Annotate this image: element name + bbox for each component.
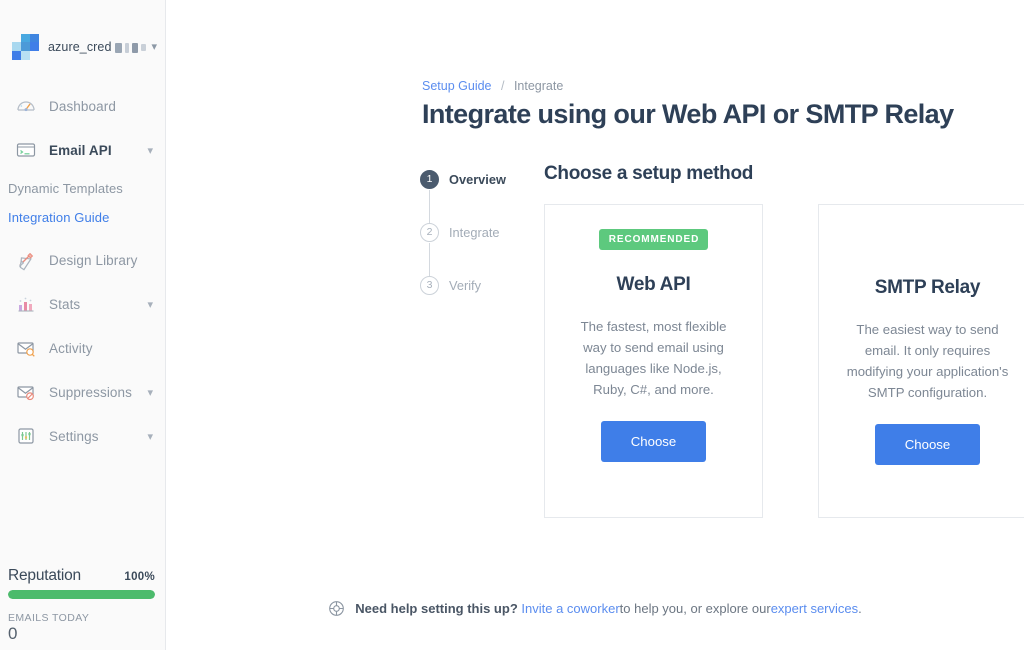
pencil-ruler-icon — [14, 248, 38, 272]
terminal-window-icon — [14, 138, 38, 162]
section-title: Choose a setup method — [544, 163, 753, 185]
reputation-title: Reputation — [8, 567, 81, 585]
breadcrumb-separator: / — [501, 79, 504, 93]
reputation-block: Reputation 100% EMAILS TODAY 0 — [0, 567, 166, 650]
help-footer: Need help setting this up? Invite a cowo… — [166, 600, 1024, 617]
help-end-text: . — [858, 601, 862, 616]
help-middle-text: to help you, or explore our — [620, 601, 771, 616]
stepper-step-integrate[interactable]: 2 Integrate — [420, 221, 530, 243]
sidebar-item-settings[interactable]: Settings ▾ — [0, 414, 165, 458]
app-root: azure_cred ▾ Dashboard — [0, 0, 1024, 650]
sidebar-item-label: Suppressions — [49, 385, 147, 400]
sidebar-item-label: Settings — [49, 429, 147, 444]
reputation-progress-fill — [8, 590, 155, 599]
page-title: Integrate using our Web API or SMTP Rela… — [422, 99, 954, 130]
emails-today-label: EMAILS TODAY — [8, 612, 155, 624]
reputation-header: Reputation 100% — [8, 567, 155, 585]
expert-services-link[interactable]: expert services — [771, 601, 858, 616]
sidebar-subitem-dynamic-templates[interactable]: Dynamic Templates — [8, 174, 165, 203]
envelope-search-icon — [14, 336, 38, 360]
stepper-step-verify[interactable]: 3 Verify — [420, 274, 530, 296]
choose-smtp-relay-button[interactable]: Choose — [875, 424, 980, 465]
sidebar: azure_cred ▾ Dashboard — [0, 0, 166, 650]
step-number: 3 — [420, 276, 439, 295]
account-name: azure_cred — [48, 40, 146, 54]
card-smtp-relay[interactable]: SMTP Relay The easiest way to send email… — [818, 204, 1024, 518]
emails-today-value: 0 — [8, 625, 155, 642]
sidebar-item-label: Dashboard — [49, 99, 153, 114]
help-bold-text: Need help setting this up? — [355, 601, 518, 616]
card-title: Web API — [617, 274, 691, 296]
stepper-step-overview[interactable]: 1 Overview — [420, 168, 530, 190]
choose-web-api-button[interactable]: Choose — [601, 421, 706, 462]
card-title: SMTP Relay — [875, 277, 980, 299]
step-label: Integrate — [449, 225, 500, 240]
sidebar-subitem-integration-guide[interactable]: Integration Guide — [8, 203, 165, 232]
account-switcher[interactable]: azure_cred ▾ — [0, 0, 165, 62]
sidebar-item-activity[interactable]: Activity — [0, 326, 165, 370]
sliders-icon — [14, 424, 38, 448]
step-number: 1 — [420, 170, 439, 189]
breadcrumb-link-setup-guide[interactable]: Setup Guide — [422, 79, 492, 93]
sidebar-nav: Dashboard Email API ▾ Dynamic Templates … — [0, 84, 165, 458]
sendgrid-logo-icon — [12, 34, 38, 60]
chevron-down-icon[interactable]: ▾ — [152, 42, 158, 53]
card-web-api[interactable]: RECOMMENDED Web API The fastest, most fl… — [544, 204, 763, 518]
chevron-down-icon[interactable]: ▾ — [147, 144, 153, 157]
sidebar-subnav-email-api: Dynamic Templates Integration Guide — [0, 172, 165, 238]
sidebar-item-design-library[interactable]: Design Library — [0, 238, 165, 282]
invite-coworker-link[interactable]: Invite a coworker — [521, 601, 619, 616]
sidebar-item-label: Activity — [49, 341, 153, 356]
sidebar-item-dashboard[interactable]: Dashboard — [0, 84, 165, 128]
redacted-text — [115, 43, 146, 53]
gauge-icon — [14, 94, 38, 118]
card-description: The easiest way to send email. It only r… — [845, 319, 1010, 403]
reputation-percent: 100% — [124, 571, 155, 583]
life-ring-icon — [328, 600, 345, 617]
sidebar-item-stats[interactable]: Stats ▾ — [0, 282, 165, 326]
sidebar-item-suppressions[interactable]: Suppressions ▾ — [0, 370, 165, 414]
step-number: 2 — [420, 223, 439, 242]
recommended-badge: RECOMMENDED — [599, 229, 708, 250]
chevron-down-icon[interactable]: ▾ — [147, 298, 153, 311]
sidebar-item-label: Stats — [49, 297, 147, 312]
sidebar-item-label: Design Library — [49, 253, 153, 268]
breadcrumb: Setup Guide / Integrate — [422, 79, 563, 93]
sidebar-item-email-api[interactable]: Email API ▾ — [0, 128, 165, 172]
main-content: Setup Guide / Integrate Integrate using … — [166, 0, 1024, 650]
bar-chart-icon — [14, 292, 38, 316]
card-description: The fastest, most flexible way to send e… — [571, 316, 736, 400]
chevron-down-icon[interactable]: ▾ — [147, 386, 153, 399]
chevron-down-icon[interactable]: ▾ — [147, 430, 153, 443]
setup-method-cards: RECOMMENDED Web API The fastest, most fl… — [544, 204, 1024, 518]
envelope-blocked-icon — [14, 380, 38, 404]
step-label: Overview — [449, 172, 506, 187]
reputation-progress-bar — [8, 590, 155, 599]
sidebar-item-label: Email API — [49, 143, 147, 158]
stepper: 1 Overview 2 Integrate 3 Verify — [420, 168, 530, 296]
breadcrumb-current: Integrate — [514, 79, 563, 93]
step-label: Verify — [449, 278, 481, 293]
